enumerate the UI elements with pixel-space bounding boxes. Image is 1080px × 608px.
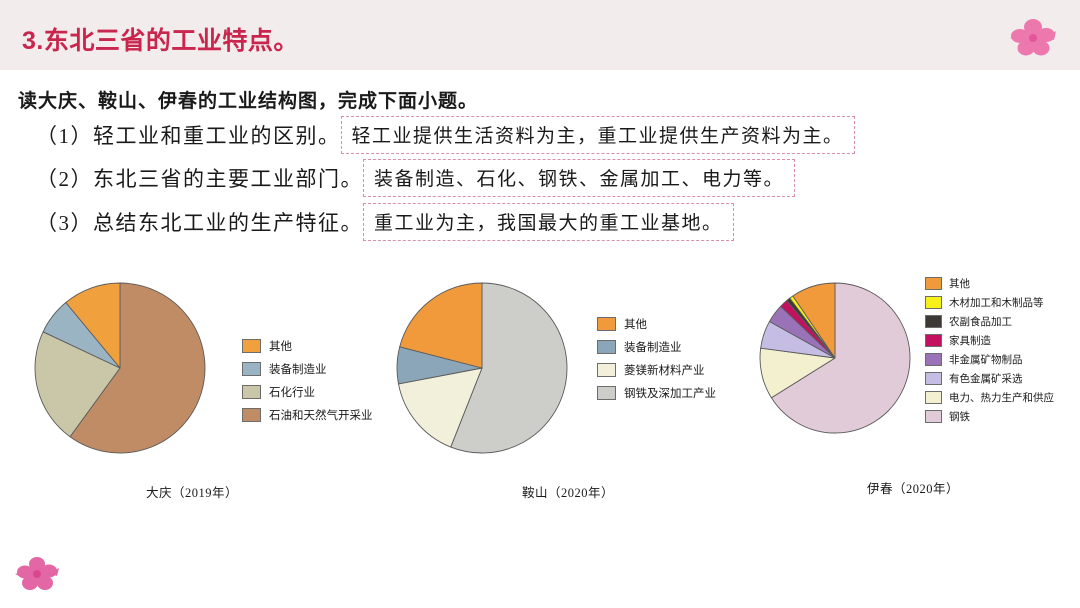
answer-box-2[interactable]: 装备制造、石化、钢铁、金属加工、电力等。 <box>363 159 795 197</box>
legend-label: 电力、热力生产和供应 <box>949 390 1054 405</box>
question-row-1: （1）轻工业和重工业的区别。 轻工业提供生活资料为主，重工业提供生产资料为主。 <box>36 116 855 154</box>
answer-box-1[interactable]: 轻工业提供生活资料为主，重工业提供生产资料为主。 <box>341 116 855 154</box>
legend-swatch <box>925 334 942 347</box>
caption-yichun: 伊春（2020年） <box>867 478 959 497</box>
legend-label: 其他 <box>949 276 970 291</box>
legend-label: 装备制造业 <box>269 361 327 377</box>
legend-label: 钢铁及深加工产业 <box>624 385 716 401</box>
legend-swatch <box>925 296 942 309</box>
legend-item: 装备制造业 <box>242 361 373 377</box>
pie-anshan-graphic <box>392 276 572 472</box>
legend-item: 电力、热力生产和供应 <box>925 390 1054 405</box>
legend-swatch <box>925 410 942 423</box>
question-row-2: （2）东北三省的主要工业部门。 装备制造、石化、钢铁、金属加工、电力等。 <box>36 159 795 197</box>
question-prompt-1: （1）轻工业和重工业的区别。 <box>36 120 341 150</box>
legend-label: 农副食品加工 <box>949 314 1012 329</box>
legend-swatch <box>597 363 616 377</box>
legend-label: 有色金属矿采选 <box>949 371 1023 386</box>
legend-item: 其他 <box>597 316 716 332</box>
legend-anshan: 其他装备制造业菱镁新材料产业钢铁及深加工产业 <box>597 316 716 408</box>
legend-item: 钢铁 <box>925 409 1054 424</box>
legend-item: 农副食品加工 <box>925 314 1054 329</box>
legend-swatch <box>242 339 261 353</box>
legend-item: 木材加工和木制品等 <box>925 295 1054 310</box>
question-lead: 读大庆、鞍山、伊春的工业结构图，完成下面小题。 <box>18 86 478 113</box>
legend-item: 钢铁及深加工产业 <box>597 385 716 401</box>
legend-swatch <box>925 315 942 328</box>
legend-swatch <box>242 408 261 422</box>
legend-yichun: 其他木材加工和木制品等农副食品加工家具制造非金属矿物制品有色金属矿采选电力、热力… <box>925 276 1054 428</box>
legend-label: 家具制造 <box>949 333 991 348</box>
legend-label: 其他 <box>269 338 292 354</box>
legend-item: 家具制造 <box>925 333 1054 348</box>
answer-box-3[interactable]: 重工业为主，我国最大的重工业基地。 <box>363 203 734 241</box>
blossom-icon <box>12 552 62 596</box>
legend-item: 非金属矿物制品 <box>925 352 1054 367</box>
legend-label: 石油和天然气开采业 <box>269 407 373 423</box>
legend-swatch <box>242 362 261 376</box>
legend-item: 其他 <box>242 338 373 354</box>
legend-swatch <box>925 277 942 290</box>
legend-label: 木材加工和木制品等 <box>949 295 1044 310</box>
legend-label: 装备制造业 <box>624 339 682 355</box>
caption-daqing: 大庆（2019年） <box>146 482 238 501</box>
legend-item: 石油和天然气开采业 <box>242 407 373 423</box>
legend-swatch <box>925 391 942 404</box>
legend-swatch <box>597 317 616 331</box>
charts-area: 其他装备制造业石化行业石油和天然气开采业 大庆（2019年） 其他装备制造业菱镁… <box>0 276 1080 516</box>
legend-item: 菱镁新材料产业 <box>597 362 716 378</box>
legend-swatch <box>242 385 261 399</box>
legend-item: 有色金属矿采选 <box>925 371 1054 386</box>
pie-yichun-graphic <box>755 276 915 466</box>
page-title: 3.东北三省的工业特点。 <box>22 21 299 57</box>
legend-item: 装备制造业 <box>597 339 716 355</box>
legend-swatch <box>597 340 616 354</box>
question-prompt-2: （2）东北三省的主要工业部门。 <box>36 163 363 193</box>
legend-swatch <box>925 372 942 385</box>
legend-swatch <box>597 386 616 400</box>
legend-daqing: 其他装备制造业石化行业石油和天然气开采业 <box>242 338 373 430</box>
legend-label: 钢铁 <box>949 409 970 424</box>
question-row-3: （3）总结东北工业的生产特征。 重工业为主，我国最大的重工业基地。 <box>36 203 734 241</box>
pie-daqing-graphic <box>30 276 210 472</box>
legend-label: 菱镁新材料产业 <box>624 362 705 378</box>
caption-anshan: 鞍山（2020年） <box>522 482 614 501</box>
legend-label: 石化行业 <box>269 384 315 400</box>
legend-label: 其他 <box>624 316 647 332</box>
legend-item: 其他 <box>925 276 1054 291</box>
legend-swatch <box>925 353 942 366</box>
legend-item: 石化行业 <box>242 384 373 400</box>
question-prompt-3: （3）总结东北工业的生产特征。 <box>36 207 363 237</box>
legend-label: 非金属矿物制品 <box>949 352 1023 367</box>
